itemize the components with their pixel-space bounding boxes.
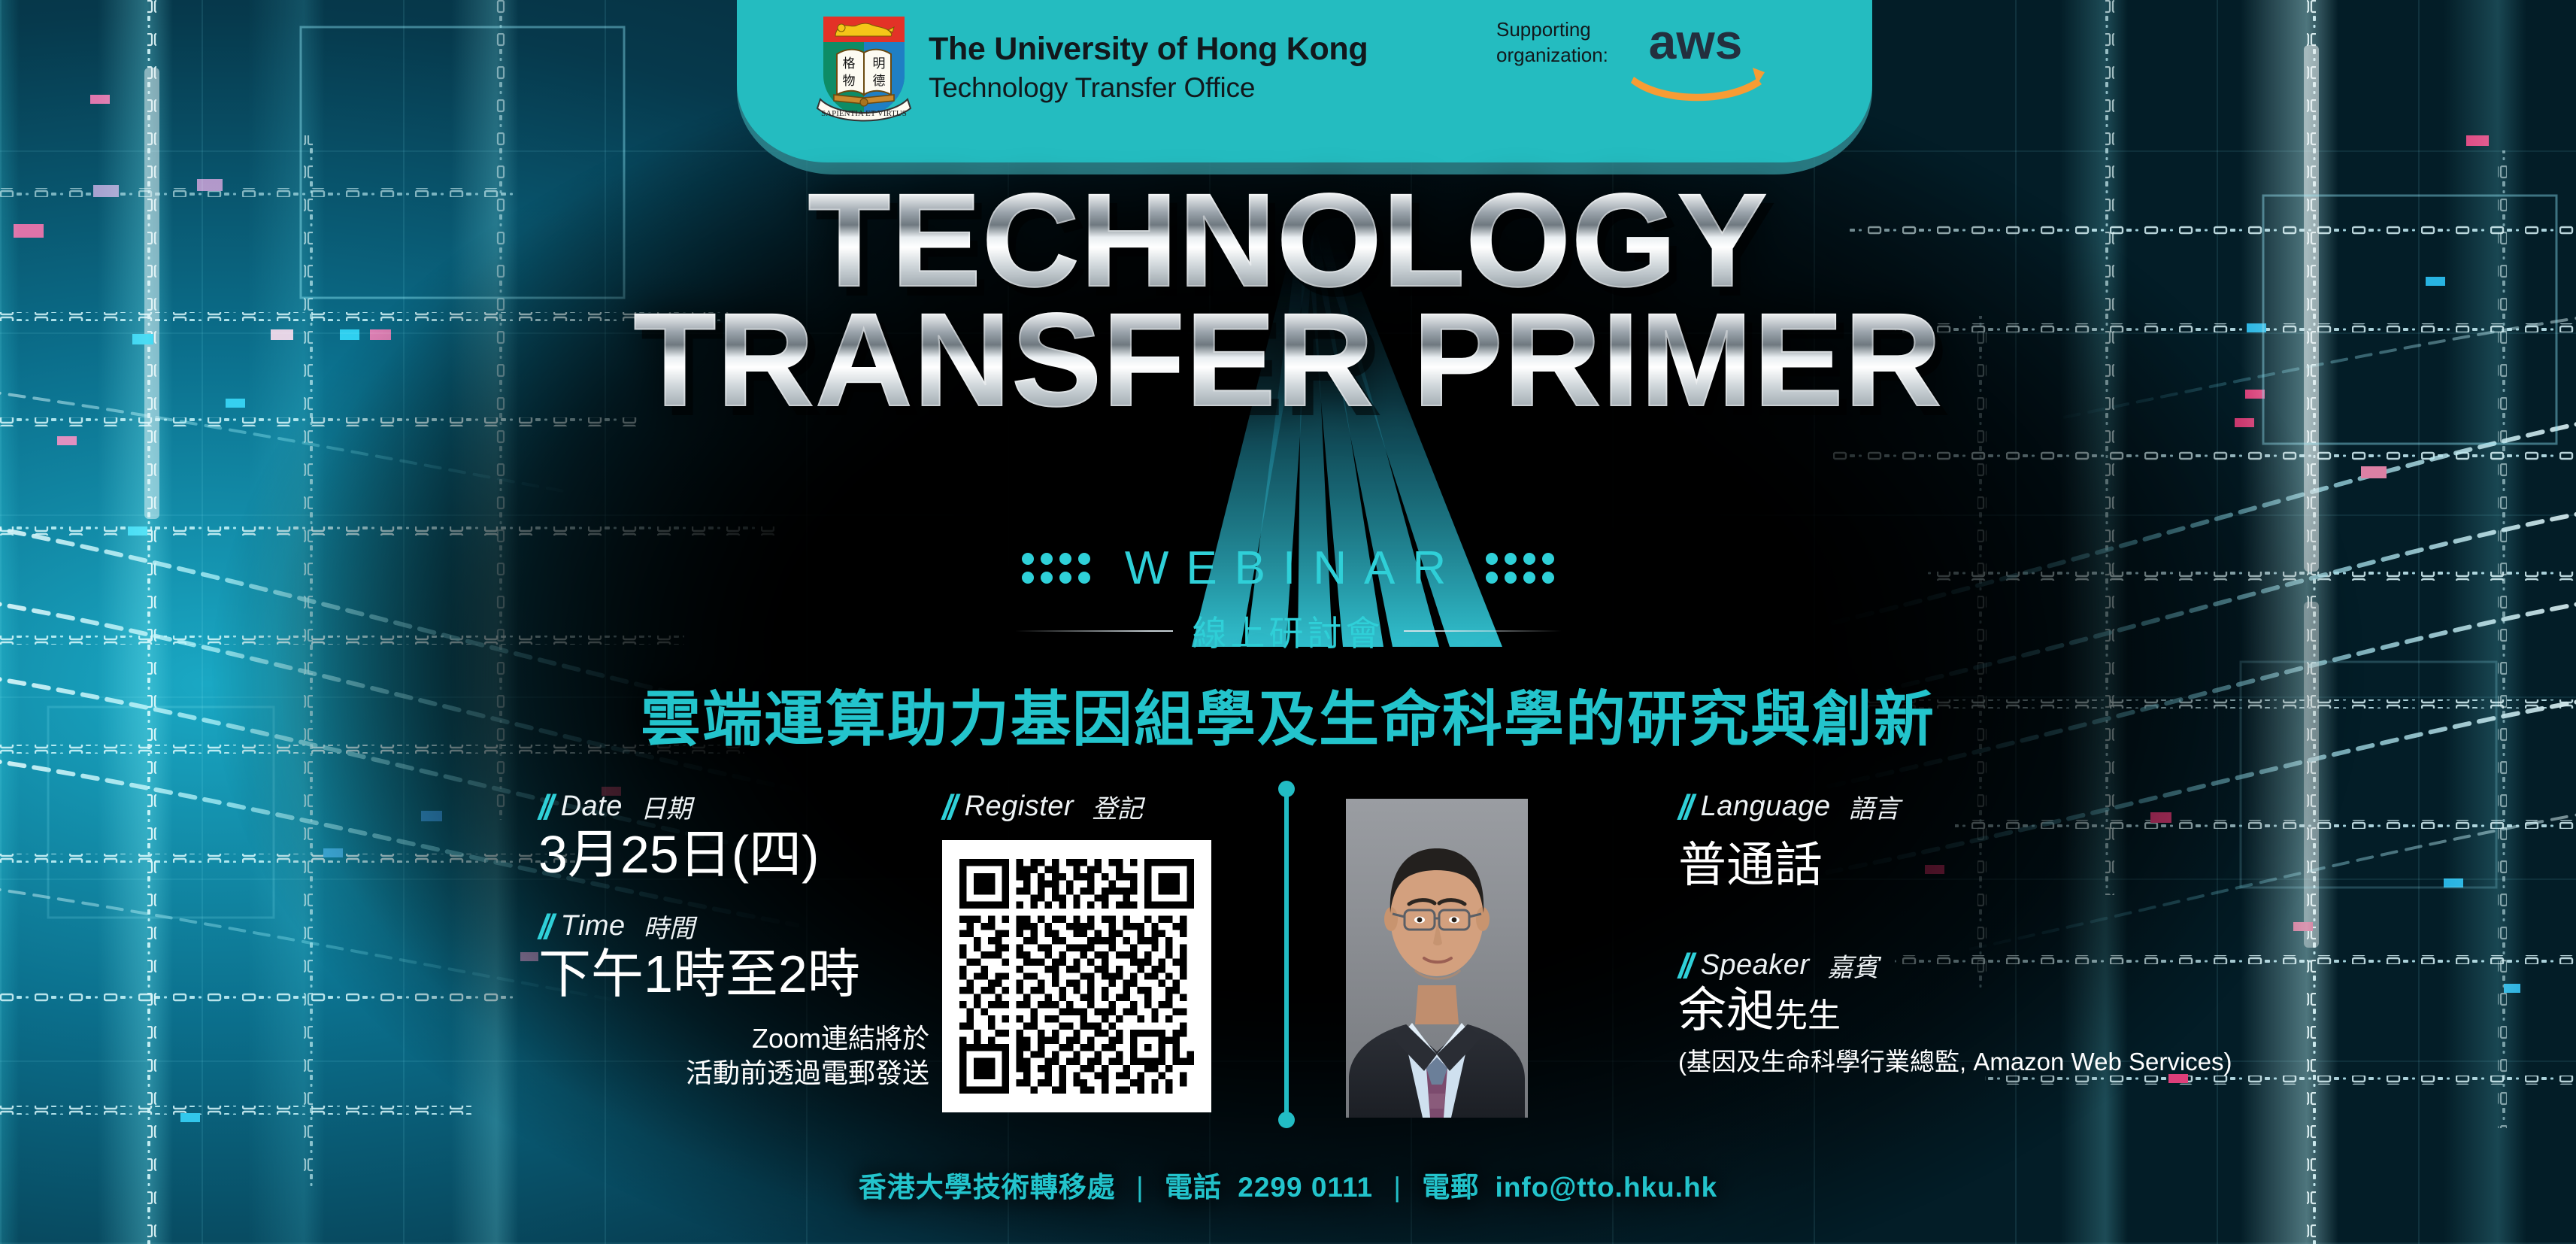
register-label-cn: 登記 xyxy=(1092,788,1143,825)
supporting-label-line1: Supporting xyxy=(1496,17,1608,42)
webinar-poster: 格 明 物 德 SAPIENTIA ET VIRTUS The Universi… xyxy=(0,0,2576,1244)
language-value: 普通話 xyxy=(1678,827,2520,896)
university-name: The University of Hong Kong xyxy=(929,31,1368,68)
slash-marker-icon: // xyxy=(942,790,954,824)
footer-separator-1: | xyxy=(1124,1172,1156,1203)
divider-dot-bottom-icon xyxy=(1278,1112,1295,1128)
footer-email[interactable]: info@tto.hku.hk xyxy=(1488,1172,1718,1203)
footer-phone-label: 電話 xyxy=(1165,1172,1222,1203)
topic-headline: 雲端運算助力基因組學及生命科學的研究與創新 xyxy=(0,671,2576,758)
time-label-row: // Time 時間 xyxy=(538,908,929,945)
svg-text:德: 德 xyxy=(873,74,886,89)
zoom-note-line1: Zoom連結將於 xyxy=(538,1021,929,1055)
time-value: 下午1時至2時 xyxy=(538,946,929,1002)
webinar-cn-row: 線上研討會 xyxy=(0,606,2576,656)
speaker-label-row: // Speaker 嘉賓 xyxy=(1678,947,2520,984)
language-label-en: Language xyxy=(1701,790,1831,823)
register-column: // Register 登記 xyxy=(942,788,1211,1112)
slash-marker-icon: // xyxy=(1678,790,1690,824)
contact-footer: 香港大學技術轉移處 | 電話 2299 0111 | 電郵 info@tto.h… xyxy=(0,1164,2576,1205)
footer-separator-2: | xyxy=(1381,1172,1414,1203)
zoom-link-note: Zoom連結將於 活動前透過電郵發送 xyxy=(538,1021,929,1090)
date-time-column: // Date 日期 3月25日(四) // Time 時間 下午1時至2時 Z… xyxy=(538,788,929,1090)
svg-text:物: 物 xyxy=(843,74,856,89)
register-label-en: Register xyxy=(965,790,1074,823)
speaker-honorific: 先生 xyxy=(1774,997,1841,1034)
time-label-en: Time xyxy=(561,910,626,942)
hku-crest-icon: 格 明 物 德 SAPIENTIA ET VIRTUS xyxy=(816,11,912,125)
speaker-photo xyxy=(1346,799,1528,1118)
svg-text:格: 格 xyxy=(843,56,856,71)
title-line-2: TRANSFER PRIMER xyxy=(0,299,2576,423)
date-label-row: // Date 日期 xyxy=(538,788,929,825)
footer-office: 香港大學技術轉移處 xyxy=(859,1172,1116,1203)
date-label-en: Date xyxy=(561,790,623,823)
register-label-row: // Register 登記 xyxy=(942,788,1211,825)
language-label-cn: 語言 xyxy=(1849,788,1900,825)
aws-wordmark: aws xyxy=(1649,14,1743,69)
speaker-label-cn: 嘉賓 xyxy=(1828,947,1879,984)
speaker-name: 余昶 xyxy=(1678,983,1774,1037)
supporting-organization: Supporting organization: aws xyxy=(1496,12,1771,102)
main-title: TECHNOLOGY TRANSFER PRIMER xyxy=(0,179,2576,423)
time-label-cn: 時間 xyxy=(644,908,695,945)
supporting-label-line2: organization: xyxy=(1496,42,1608,68)
speaker-affiliation: (基因及生命科學行業總監, Amazon Web Services) xyxy=(1678,1042,2520,1078)
vertical-divider xyxy=(1278,779,1295,1130)
divider-line-left xyxy=(1015,630,1173,632)
hku-branding: 格 明 物 德 SAPIENTIA ET VIRTUS The Universi… xyxy=(816,11,1368,125)
svg-text:明: 明 xyxy=(873,56,886,71)
crest-motto: SAPIENTIA ET VIRTUS xyxy=(821,109,907,118)
speaker-name-row: 余昶先生 xyxy=(1678,985,2520,1036)
office-name: Technology Transfer Office xyxy=(929,72,1368,105)
qr-code[interactable] xyxy=(942,840,1211,1112)
speaker-block: // Speaker 嘉賓 余昶先生 (基因及生命科學行業總監, Amazon … xyxy=(1678,947,2520,1078)
date-value: 3月25日(四) xyxy=(538,827,929,882)
language-label-row: // Language 語言 xyxy=(1678,788,2520,825)
date-label-cn: 日期 xyxy=(641,788,692,825)
divider-bar xyxy=(1284,788,1289,1121)
language-speaker-column: // Language 語言 普通話 // Speaker 嘉賓 余昶先生 (基… xyxy=(1678,788,2520,1078)
webinar-cn-label: 線上研討會 xyxy=(1193,606,1384,656)
speaker-label-en: Speaker xyxy=(1701,949,1810,982)
webinar-label: WEBINAR xyxy=(1113,542,1463,595)
footer-email-label: 電郵 xyxy=(1422,1172,1479,1203)
divider-line-right xyxy=(1404,630,1562,632)
webinar-row: WEBINAR xyxy=(0,542,2576,595)
qr-code-icon[interactable] xyxy=(959,859,1194,1094)
aws-logo-icon: aws xyxy=(1620,12,1771,102)
title-line-1: TECHNOLOGY xyxy=(0,179,2576,303)
dots-right-icon xyxy=(1486,553,1554,584)
slash-marker-icon: // xyxy=(538,909,550,944)
slash-marker-icon: // xyxy=(1678,948,1690,983)
slash-marker-icon: // xyxy=(538,790,550,824)
speaker-portrait-image xyxy=(1346,799,1528,1118)
dots-left-icon xyxy=(1022,553,1090,584)
zoom-note-line2: 活動前透過電郵發送 xyxy=(538,1056,929,1090)
footer-phone: 2299 0111 xyxy=(1230,1172,1373,1203)
